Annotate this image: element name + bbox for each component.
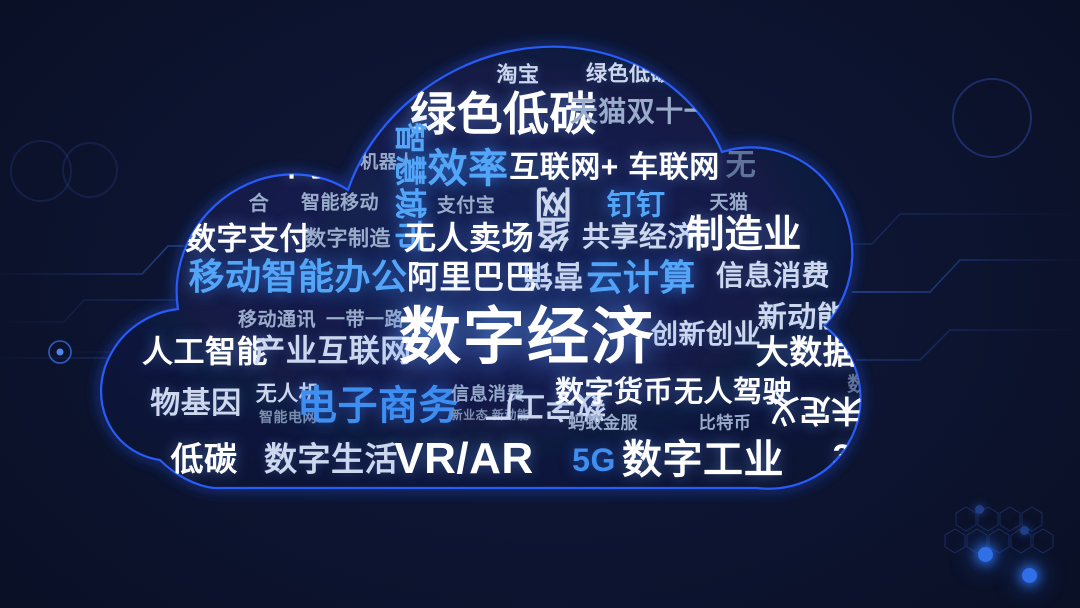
word-industrial-net: 产业互联网 (254, 336, 412, 367)
word-smart-mobile: 智能移动 (301, 194, 379, 213)
word-ecommerce: 电子商务 (297, 386, 459, 426)
word-luo-rot: 络 (537, 219, 570, 251)
word-internet-plus: 互联网+ (509, 153, 619, 183)
word-efficiency: 效率 (428, 149, 509, 189)
word-bitcoin: 比特币 (699, 415, 752, 432)
word-low-carbon: 低碳 (171, 443, 238, 476)
word-taobao: 淘宝 (497, 65, 540, 86)
word-manufacture: 制造业 (686, 216, 802, 254)
word-digital-life: 数字生活 (264, 443, 398, 476)
hero-title: 数字经济 (399, 307, 655, 369)
word-belt-road: 一带一路 (326, 311, 404, 330)
word-digital-mfg: 数字制造 (305, 229, 391, 250)
word-digital-pay: 数字支付 (185, 224, 311, 255)
word-vr-ar: VR/AR (394, 437, 533, 481)
word-digital-industry: 数字工业 (622, 440, 784, 480)
poster-canvas: 淘宝绿色低碳绿色低碳天猫双十一网机器人智慧城市效率互联网+车联网无合智能移动支付… (0, 0, 1080, 608)
word-he: 合 (249, 194, 270, 214)
word-edge-top-right: 无 (726, 151, 757, 181)
word-green-low-carbon-big: 绿色低碳 (410, 91, 596, 137)
word-ai: 人工智能 (142, 337, 268, 368)
word-sharing-economy: 共享经济 (582, 223, 696, 251)
word-cloud-computing: 云计算 (586, 260, 696, 296)
word-unmanned-store: 无人卖场 (404, 222, 534, 254)
word-dingtalk: 钉钉 (606, 192, 665, 221)
word-mobile-comm: 移动通讯 (238, 311, 316, 330)
word-alipay: 支付宝 (437, 197, 496, 216)
word-iov: 车联网 (628, 153, 720, 183)
word-bio-gene: 物基因 (150, 389, 242, 419)
word-innovation: 创新创业 (651, 322, 761, 349)
word-digital-currency: 数字货币 (555, 379, 673, 408)
word-alibaba: 阿里巴巴 (407, 261, 537, 293)
word-five-g: 5G (572, 444, 616, 476)
word-mobile-smart-office: 移动智能办公 (188, 259, 407, 295)
word-ant-financial: 蚂蚁金服 (568, 415, 638, 432)
word-info-consume-top: 信息消费 (716, 262, 830, 290)
word-undefined-rot: 未定义 (768, 395, 863, 426)
word-tmall: 天猫 (709, 194, 748, 213)
